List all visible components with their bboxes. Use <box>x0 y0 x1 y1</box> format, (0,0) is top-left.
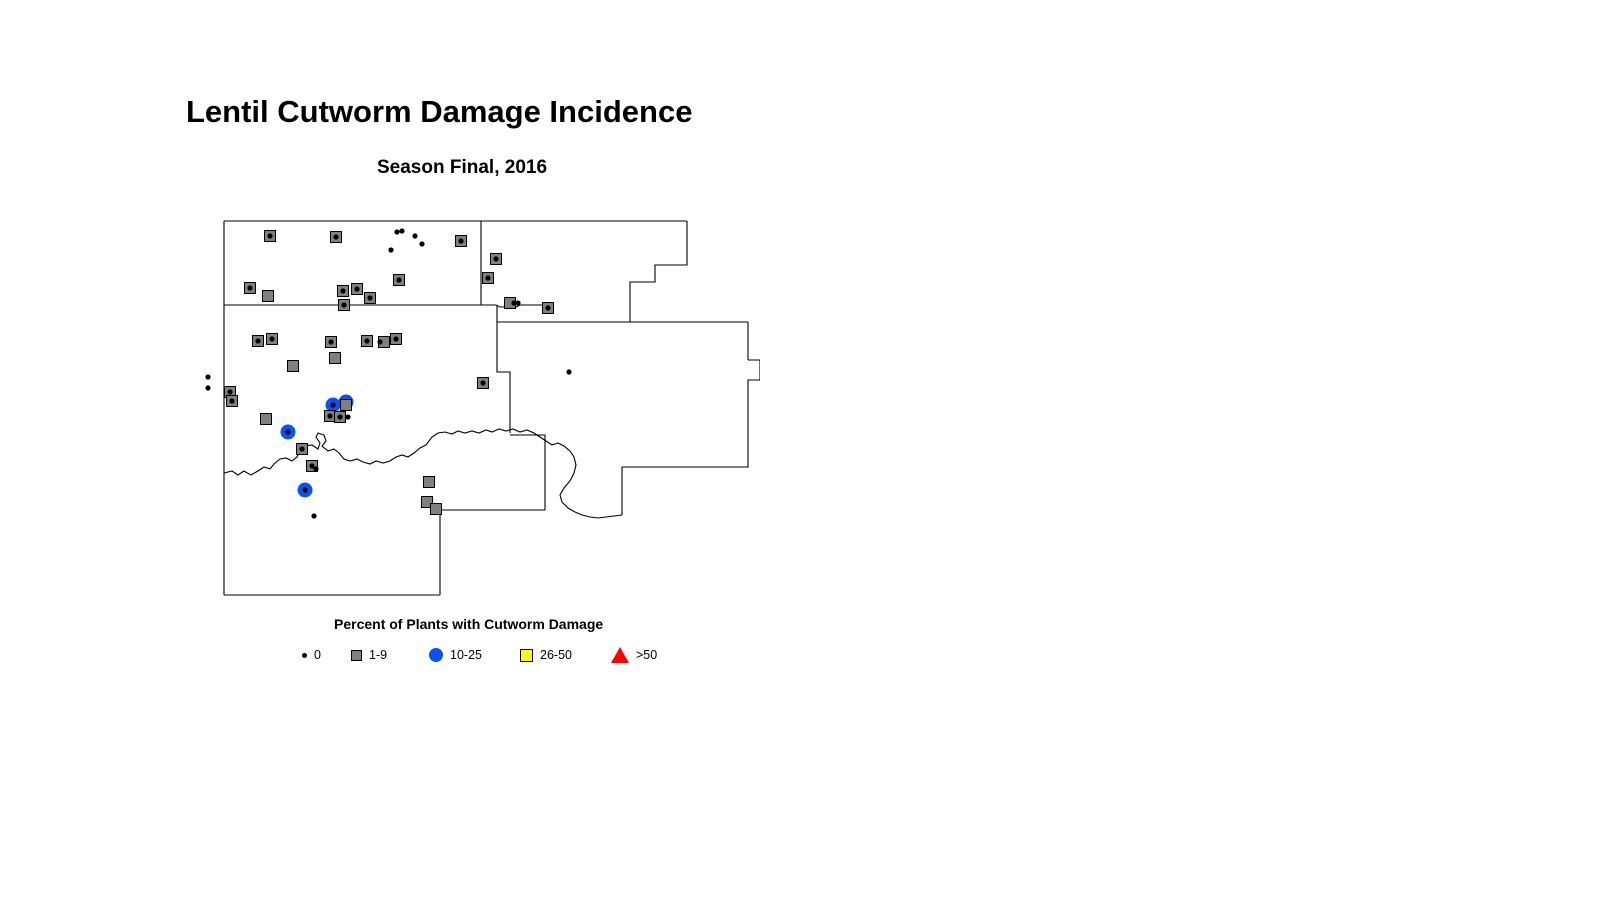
legend-item-1: 1-9 <box>351 645 387 665</box>
map-figure <box>200 205 760 625</box>
data-point-zero <box>394 229 399 234</box>
legend-label-3: 26-50 <box>540 649 572 662</box>
boundary-south-central-step <box>510 435 545 510</box>
legend-item-2: 10-25 <box>429 645 482 665</box>
data-point-zero <box>205 374 210 379</box>
boundary-southeast-lower <box>637 380 760 467</box>
data-point-zero <box>354 286 359 291</box>
legend-item-3: 26-50 <box>520 645 572 665</box>
data-point-zero <box>227 389 232 394</box>
data-point-zero <box>330 402 335 407</box>
data-point-low <box>341 400 352 411</box>
data-point-zero <box>566 369 571 374</box>
page-title: Lentil Cutworm Damage Incidence <box>186 94 692 130</box>
data-point-zero <box>419 241 424 246</box>
data-point-zero <box>393 336 398 341</box>
data-point-zero <box>311 513 316 518</box>
data-point-zero <box>328 339 333 344</box>
data-point-zero <box>377 339 382 344</box>
data-point-zero <box>205 385 210 390</box>
boundary-northeast-steps <box>630 221 687 322</box>
data-point-zero <box>333 234 338 239</box>
legend-item-0: 0 <box>298 645 321 665</box>
data-point-zero <box>396 277 401 282</box>
boundary-south-right-vertical <box>622 467 637 515</box>
data-point-low <box>330 353 341 364</box>
data-point-zero <box>458 238 463 243</box>
legend-label-4: >50 <box>636 649 657 662</box>
legend-label-2: 10-25 <box>450 649 482 662</box>
data-point-zero <box>255 338 260 343</box>
legend-label-1: 1-9 <box>369 649 387 662</box>
data-point-zero <box>545 305 550 310</box>
yellow-square-icon <box>520 649 533 662</box>
gray-square-icon <box>351 650 362 661</box>
legend-label-0: 0 <box>314 649 321 662</box>
small-black-dot-icon <box>302 653 307 658</box>
data-point-zero <box>412 233 417 238</box>
data-point-low <box>431 504 442 515</box>
data-point-zero <box>340 288 345 293</box>
legend: 0 1-9 10-25 26-50 >50 <box>298 645 698 665</box>
boundary-southwest-right <box>440 510 545 595</box>
data-point-zero <box>399 228 404 233</box>
data-point-low <box>261 414 272 425</box>
data-point-zero <box>229 398 234 403</box>
boundary-east-step <box>748 360 760 380</box>
legend-title: Percent of Plants with Cutworm Damage <box>334 616 603 632</box>
data-point-zero <box>480 380 485 385</box>
data-point-zero <box>285 429 290 434</box>
data-point-zero <box>302 487 307 492</box>
page-root: Lentil Cutworm Damage Incidence Season F… <box>0 0 1612 900</box>
blue-circle-icon <box>429 648 443 662</box>
data-point-low <box>424 477 435 488</box>
legend-item-4: >50 <box>611 645 657 665</box>
data-point-layer <box>205 228 571 518</box>
data-point-zero <box>267 233 272 238</box>
data-point-zero <box>493 256 498 261</box>
data-point-zero <box>341 302 346 307</box>
data-point-zero <box>485 275 490 280</box>
page-subtitle: Season Final, 2016 <box>377 157 547 179</box>
data-point-zero <box>388 247 393 252</box>
data-point-zero <box>247 285 252 290</box>
data-point-zero <box>367 295 372 300</box>
data-point-zero <box>269 336 274 341</box>
red-triangle-icon <box>611 647 629 663</box>
data-point-zero <box>345 414 350 419</box>
data-point-zero <box>327 413 332 418</box>
boundary-mid-vertical <box>497 322 510 433</box>
data-point-zero <box>313 466 318 471</box>
data-point-zero <box>515 300 520 305</box>
map-canvas <box>200 205 760 625</box>
data-point-low <box>288 361 299 372</box>
data-point-low <box>263 291 274 302</box>
data-point-zero <box>337 414 342 419</box>
data-point-zero <box>299 446 304 451</box>
data-point-zero <box>364 338 369 343</box>
